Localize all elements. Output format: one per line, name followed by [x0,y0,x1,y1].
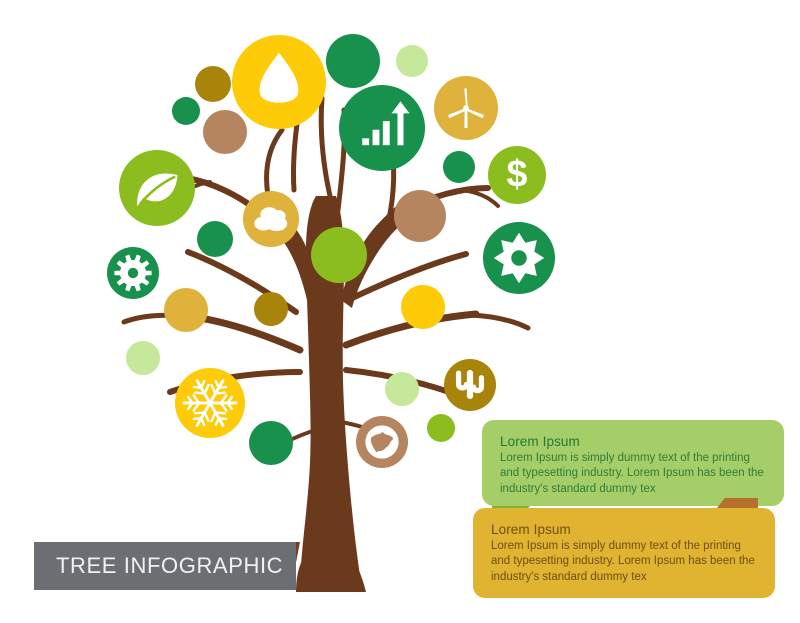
icon-node-cloud[interactable]: Cloud [243,191,299,247]
decorative-circle [164,288,208,332]
icon-node-dollar-sign[interactable]: $Dollar sign [488,146,546,204]
decorative-circle [254,292,288,326]
decorative-circle [249,421,293,465]
icon-node-growth-chart[interactable]: Growth chart [339,85,425,171]
decorative-circle [394,190,446,242]
sun-icon-center [511,250,526,265]
icon-node-gear[interactable]: Gear [107,247,159,299]
decorative-circle [427,414,455,442]
globe-icon [365,425,398,458]
icon-circle-background [339,85,425,171]
callout-gold[interactable]: Lorem Ipsum Lorem Ipsum is simply dummy … [473,508,775,598]
decorative-circle [326,34,380,88]
decorative-circle [172,97,200,125]
callout-green-title: Lorem Ipsum [500,434,766,449]
decorative-circle [385,372,419,406]
icon-node-wind-turbine[interactable]: Wind turbine [434,76,498,140]
infographic-canvas: Water dropGrowth chartWind turbine$Dolla… [0,0,800,623]
icon-node-water-drop[interactable]: Water drop [232,35,326,129]
svg-text:$: $ [507,153,528,195]
dollar-sign-icon: $ [507,153,528,195]
icon-node-globe[interactable]: Globe [356,416,408,468]
callout-gold-body: Lorem Ipsum is simply dummy text of the … [491,539,757,585]
decorative-circle [401,285,445,329]
decorative-circle [195,66,231,102]
callout-gold-title: Lorem Ipsum [491,522,757,537]
icon-node-cactus[interactable]: Cactus [444,359,496,411]
title-banner: TREE INFOGRAPHIC [34,542,296,590]
callout-green-body: Lorem Ipsum is simply dummy text of the … [500,451,766,497]
icon-node-leaf[interactable]: Leaf [119,150,195,226]
icon-node-sun[interactable]: Sun [483,222,555,294]
decorative-circle [311,227,367,283]
decorative-circle [197,221,233,257]
callout-green[interactable]: Lorem Ipsum Lorem Ipsum is simply dummy … [482,420,784,506]
page-title: TREE INFOGRAPHIC [56,553,283,579]
decorative-circle [203,110,247,154]
decorative-circle [126,341,160,375]
decorative-circle [443,151,475,183]
decorative-circle [396,45,428,77]
icon-node-snowflake[interactable]: Snowflake [175,368,245,438]
